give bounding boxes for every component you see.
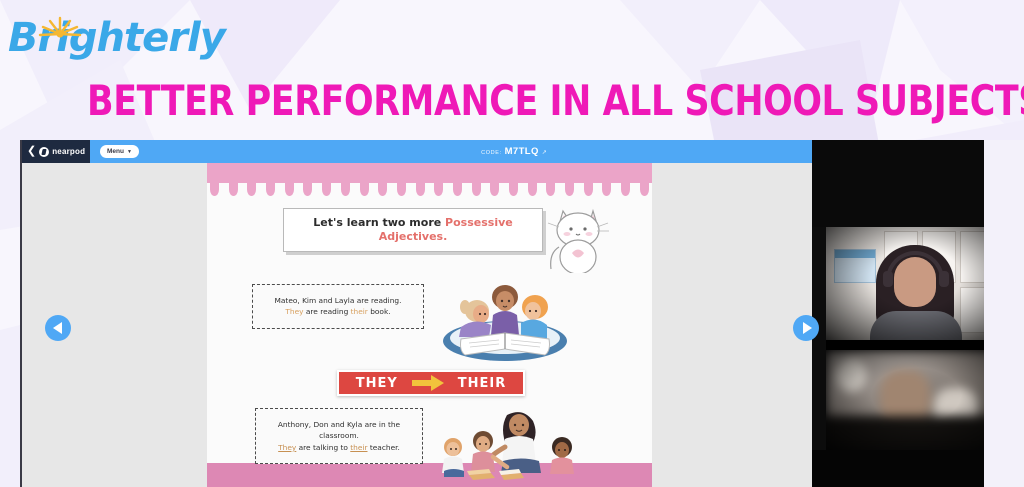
slide-content: Let's learn two more Possessive Adjectiv…	[207, 163, 652, 487]
cat-icon	[539, 203, 611, 273]
video-panel	[812, 140, 1004, 487]
teacher-video-tile[interactable]	[826, 227, 1004, 340]
slide-canvas: Let's learn two more Possessive Adjectiv…	[22, 163, 812, 487]
rule-from: THEY	[356, 376, 398, 391]
example-sentence-two: Anthony, Don and Kyla are in the classro…	[255, 408, 423, 464]
session-code[interactable]: CODE: M7TLQ ↗	[481, 146, 547, 157]
slide-title-card: Let's learn two more Possessive Adjectiv…	[283, 208, 543, 252]
example-sentence-one: Mateo, Kim and Layla are reading. They a…	[252, 284, 424, 329]
pronoun-they: They	[285, 307, 303, 316]
menu-button[interactable]: Menu ▼	[100, 145, 139, 158]
chevron-left-icon[interactable]: ❮	[27, 146, 36, 157]
pompom-fringe	[207, 183, 652, 197]
previous-slide-button[interactable]	[45, 315, 71, 341]
student-video-tile[interactable]	[826, 350, 1004, 450]
video-panel-bottom-fill	[812, 450, 1004, 487]
share-icon[interactable]: ↗	[542, 149, 547, 156]
page-right-margin	[984, 140, 1024, 487]
pronoun-their: their	[351, 307, 368, 316]
pronoun-their-2: their	[350, 443, 367, 452]
arrow-right-icon	[412, 375, 444, 391]
kids-reading-illustration	[425, 267, 585, 363]
triangle-right-icon	[803, 322, 812, 334]
page-title: BETTER PERFORMANCE IN ALL SCHOOL SUBJECT…	[87, 76, 937, 125]
decorative-banner-top	[207, 163, 652, 183]
example-two-line3: They are talking to their teacher.	[267, 442, 411, 453]
next-slide-button[interactable]	[793, 315, 819, 341]
menu-button-label: Menu	[107, 148, 124, 155]
video-panel-top-fill	[812, 140, 1004, 227]
video-panel-left-fill	[812, 227, 826, 450]
nearpod-logo-text: nearpod	[52, 147, 85, 156]
pronoun-they-2: They	[278, 443, 296, 452]
nearpod-app-window: ❮ nearpod Menu ▼ CODE: M7TLQ ↗	[20, 140, 1004, 487]
example-one-line1: Mateo, Kim and Layla are reading.	[264, 295, 412, 306]
chevron-down-icon: ▼	[127, 149, 132, 155]
session-code-value: M7TLQ	[505, 146, 539, 157]
slide-letterbox-right	[652, 163, 812, 487]
nearpod-brand[interactable]: ❮ nearpod	[22, 140, 90, 163]
sun-icon	[38, 10, 82, 40]
triangle-left-icon	[53, 322, 62, 334]
session-code-label: CODE:	[481, 150, 501, 156]
example-two-line1: Anthony, Don and Kyla are in the	[267, 419, 411, 430]
rule-banner: THEY THEIR	[337, 370, 525, 396]
classroom-illustration	[429, 403, 597, 487]
example-two-line2: classroom.	[267, 430, 411, 441]
example-one-line2: They are reading their book.	[264, 306, 412, 317]
slide-title-prefix: Let's learn two more	[313, 216, 445, 229]
nearpod-logo-icon	[39, 147, 49, 157]
brand-logo[interactable]: Brighterly	[8, 6, 225, 58]
rule-to: THEIR	[458, 376, 506, 391]
